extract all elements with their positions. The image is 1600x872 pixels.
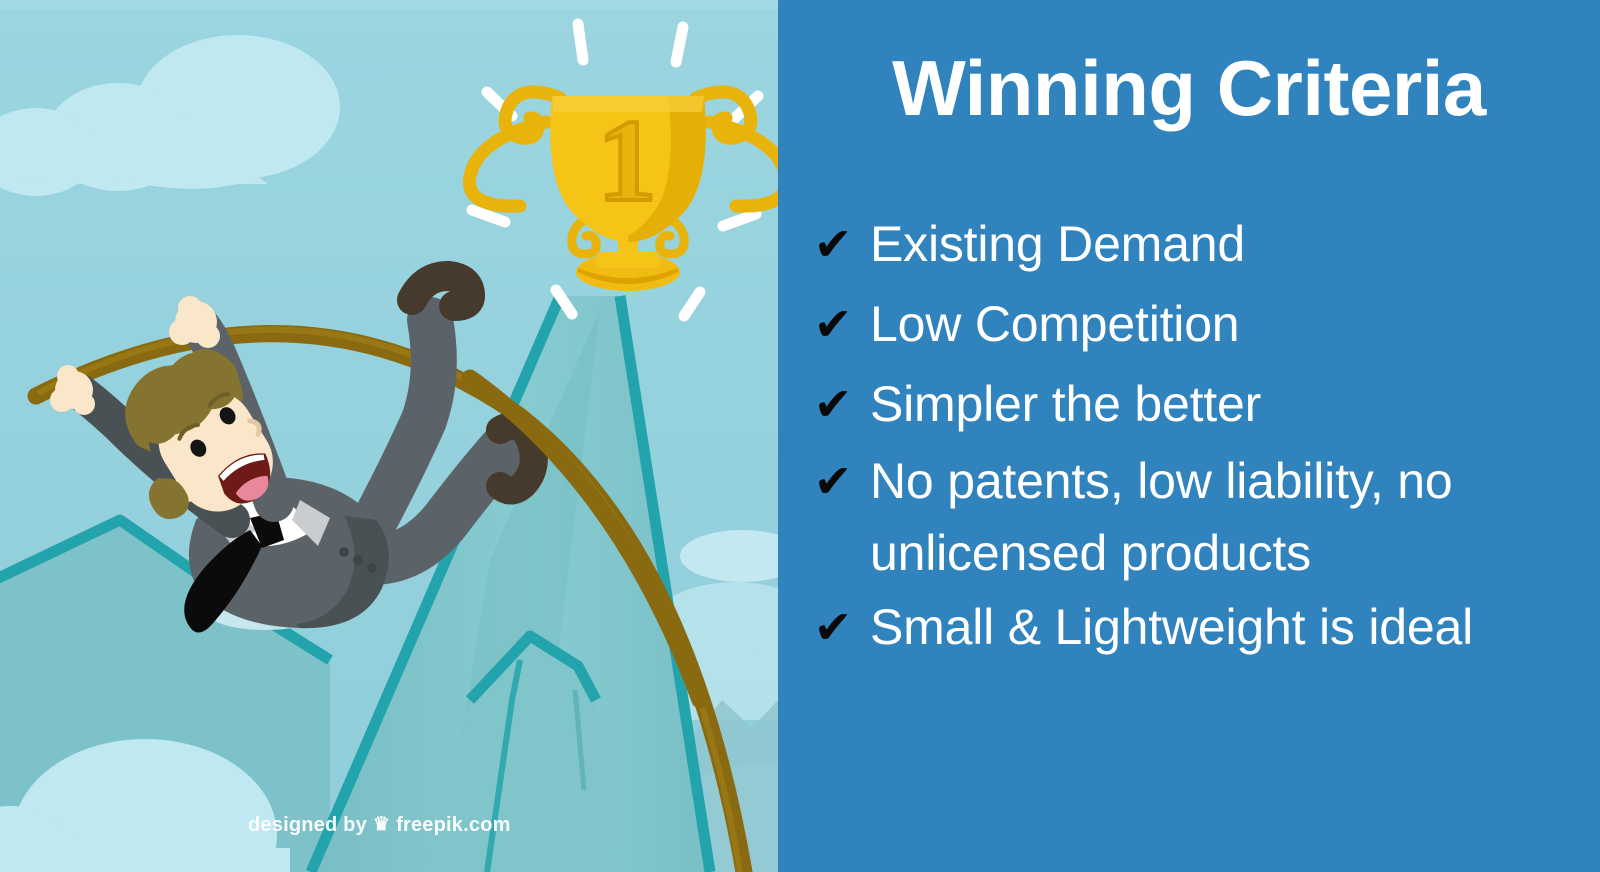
freepik-crown-icon: ♛	[373, 815, 390, 834]
sky-top-highlight	[0, 0, 778, 10]
check-icon: ✔	[796, 591, 870, 663]
list-item: ✔ Existing Demand	[796, 205, 1596, 283]
shoe-far	[412, 276, 470, 306]
businessman-polevault-illustration: 1	[0, 0, 778, 872]
watermark-prefix: designed by	[248, 814, 367, 837]
criteria-label: Low Competition	[870, 285, 1596, 363]
check-icon: ✔	[796, 445, 870, 517]
check-icon: ✔	[796, 365, 870, 443]
criteria-label: Simpler the better	[870, 365, 1596, 443]
watermark-suffix: freepik.com	[396, 814, 510, 837]
criteria-label: Small & Lightweight is ideal	[870, 591, 1596, 663]
criteria-label: No patents, low liability, no unlicensed…	[870, 445, 1596, 589]
list-item: ✔ Small & Lightweight is ideal	[796, 591, 1596, 663]
content-panel: Winning Criteria ✔ Existing Demand ✔ Low…	[778, 0, 1600, 872]
list-item: ✔ Simpler the better	[796, 365, 1596, 443]
trophy-number: 1	[598, 95, 657, 226]
freepik-watermark: designed by ♛ freepik.com	[248, 814, 511, 837]
list-item: ✔ No patents, low liability, no unlicens…	[796, 445, 1596, 589]
criteria-list: ✔ Existing Demand ✔ Low Competition ✔ Si…	[796, 205, 1596, 665]
page-title: Winning Criteria	[778, 48, 1600, 130]
illustration-panel: 1	[0, 0, 778, 872]
criteria-label: Existing Demand	[870, 205, 1596, 283]
check-icon: ✔	[796, 205, 870, 283]
check-icon: ✔	[796, 285, 870, 363]
slide-root: 1	[0, 0, 1600, 872]
list-item: ✔ Low Competition	[796, 285, 1596, 363]
